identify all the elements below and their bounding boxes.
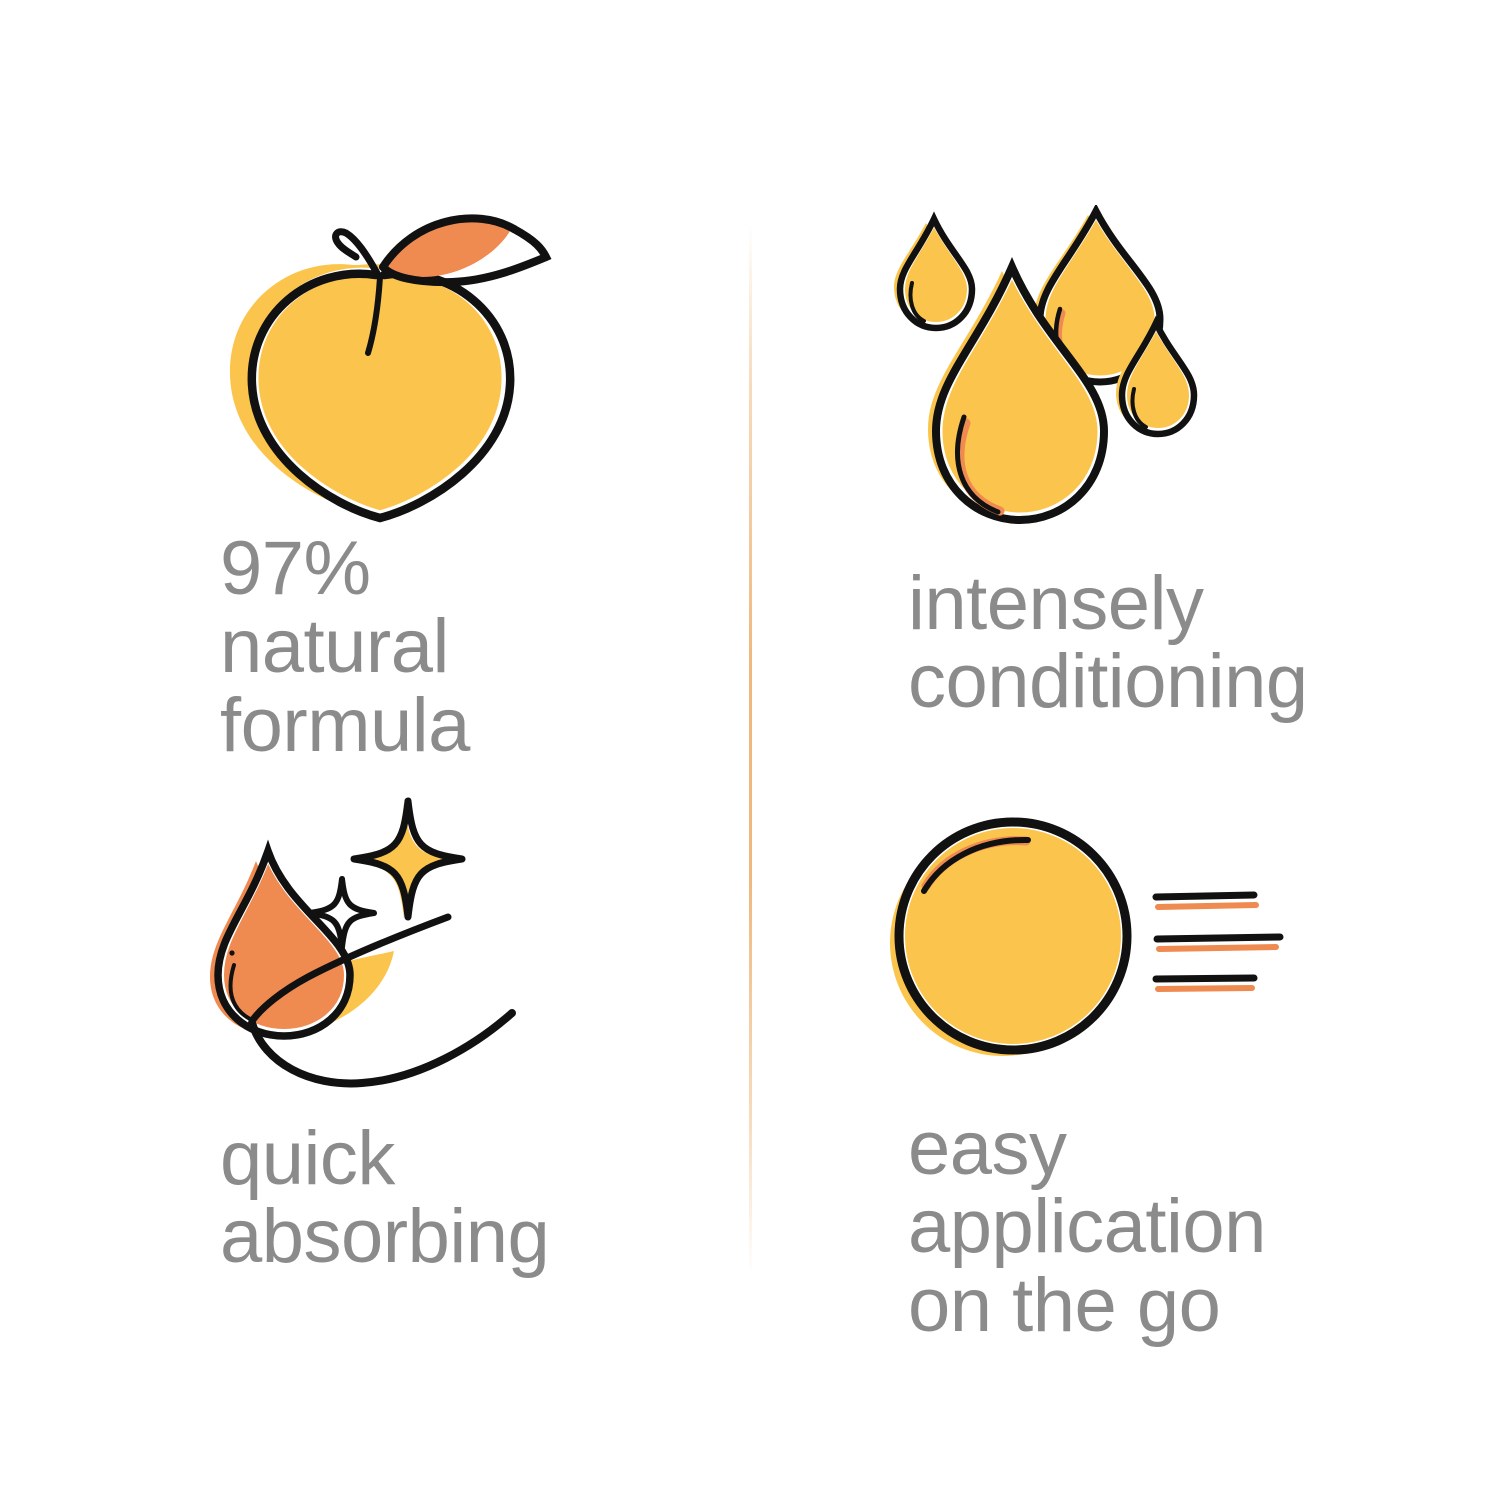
peach-icon	[190, 205, 570, 530]
caption-easy-application: easy application on the go	[908, 1110, 1266, 1345]
oil-droplets-icon	[880, 205, 1220, 530]
absorbing-droplet-sparkle-icon	[190, 795, 540, 1110]
feature-cell-natural-formula: 97% natural formula	[190, 205, 730, 745]
vertical-divider	[749, 225, 752, 1275]
feature-cell-easy-application: easy application on the go	[880, 795, 1440, 1355]
caption-quick-absorbing: quick absorbing	[220, 1120, 549, 1277]
feature-grid-board: 97% natural formula	[0, 0, 1500, 1500]
rolling-ball-motion-icon	[880, 795, 1300, 1090]
caption-natural-formula: 97% natural formula	[220, 530, 470, 765]
caption-intensely-conditioning: intensely conditioning	[908, 565, 1308, 722]
feature-cell-intensely-conditioning: intensely conditioning	[880, 205, 1440, 745]
feature-cell-quick-absorbing: quick absorbing	[190, 795, 730, 1355]
